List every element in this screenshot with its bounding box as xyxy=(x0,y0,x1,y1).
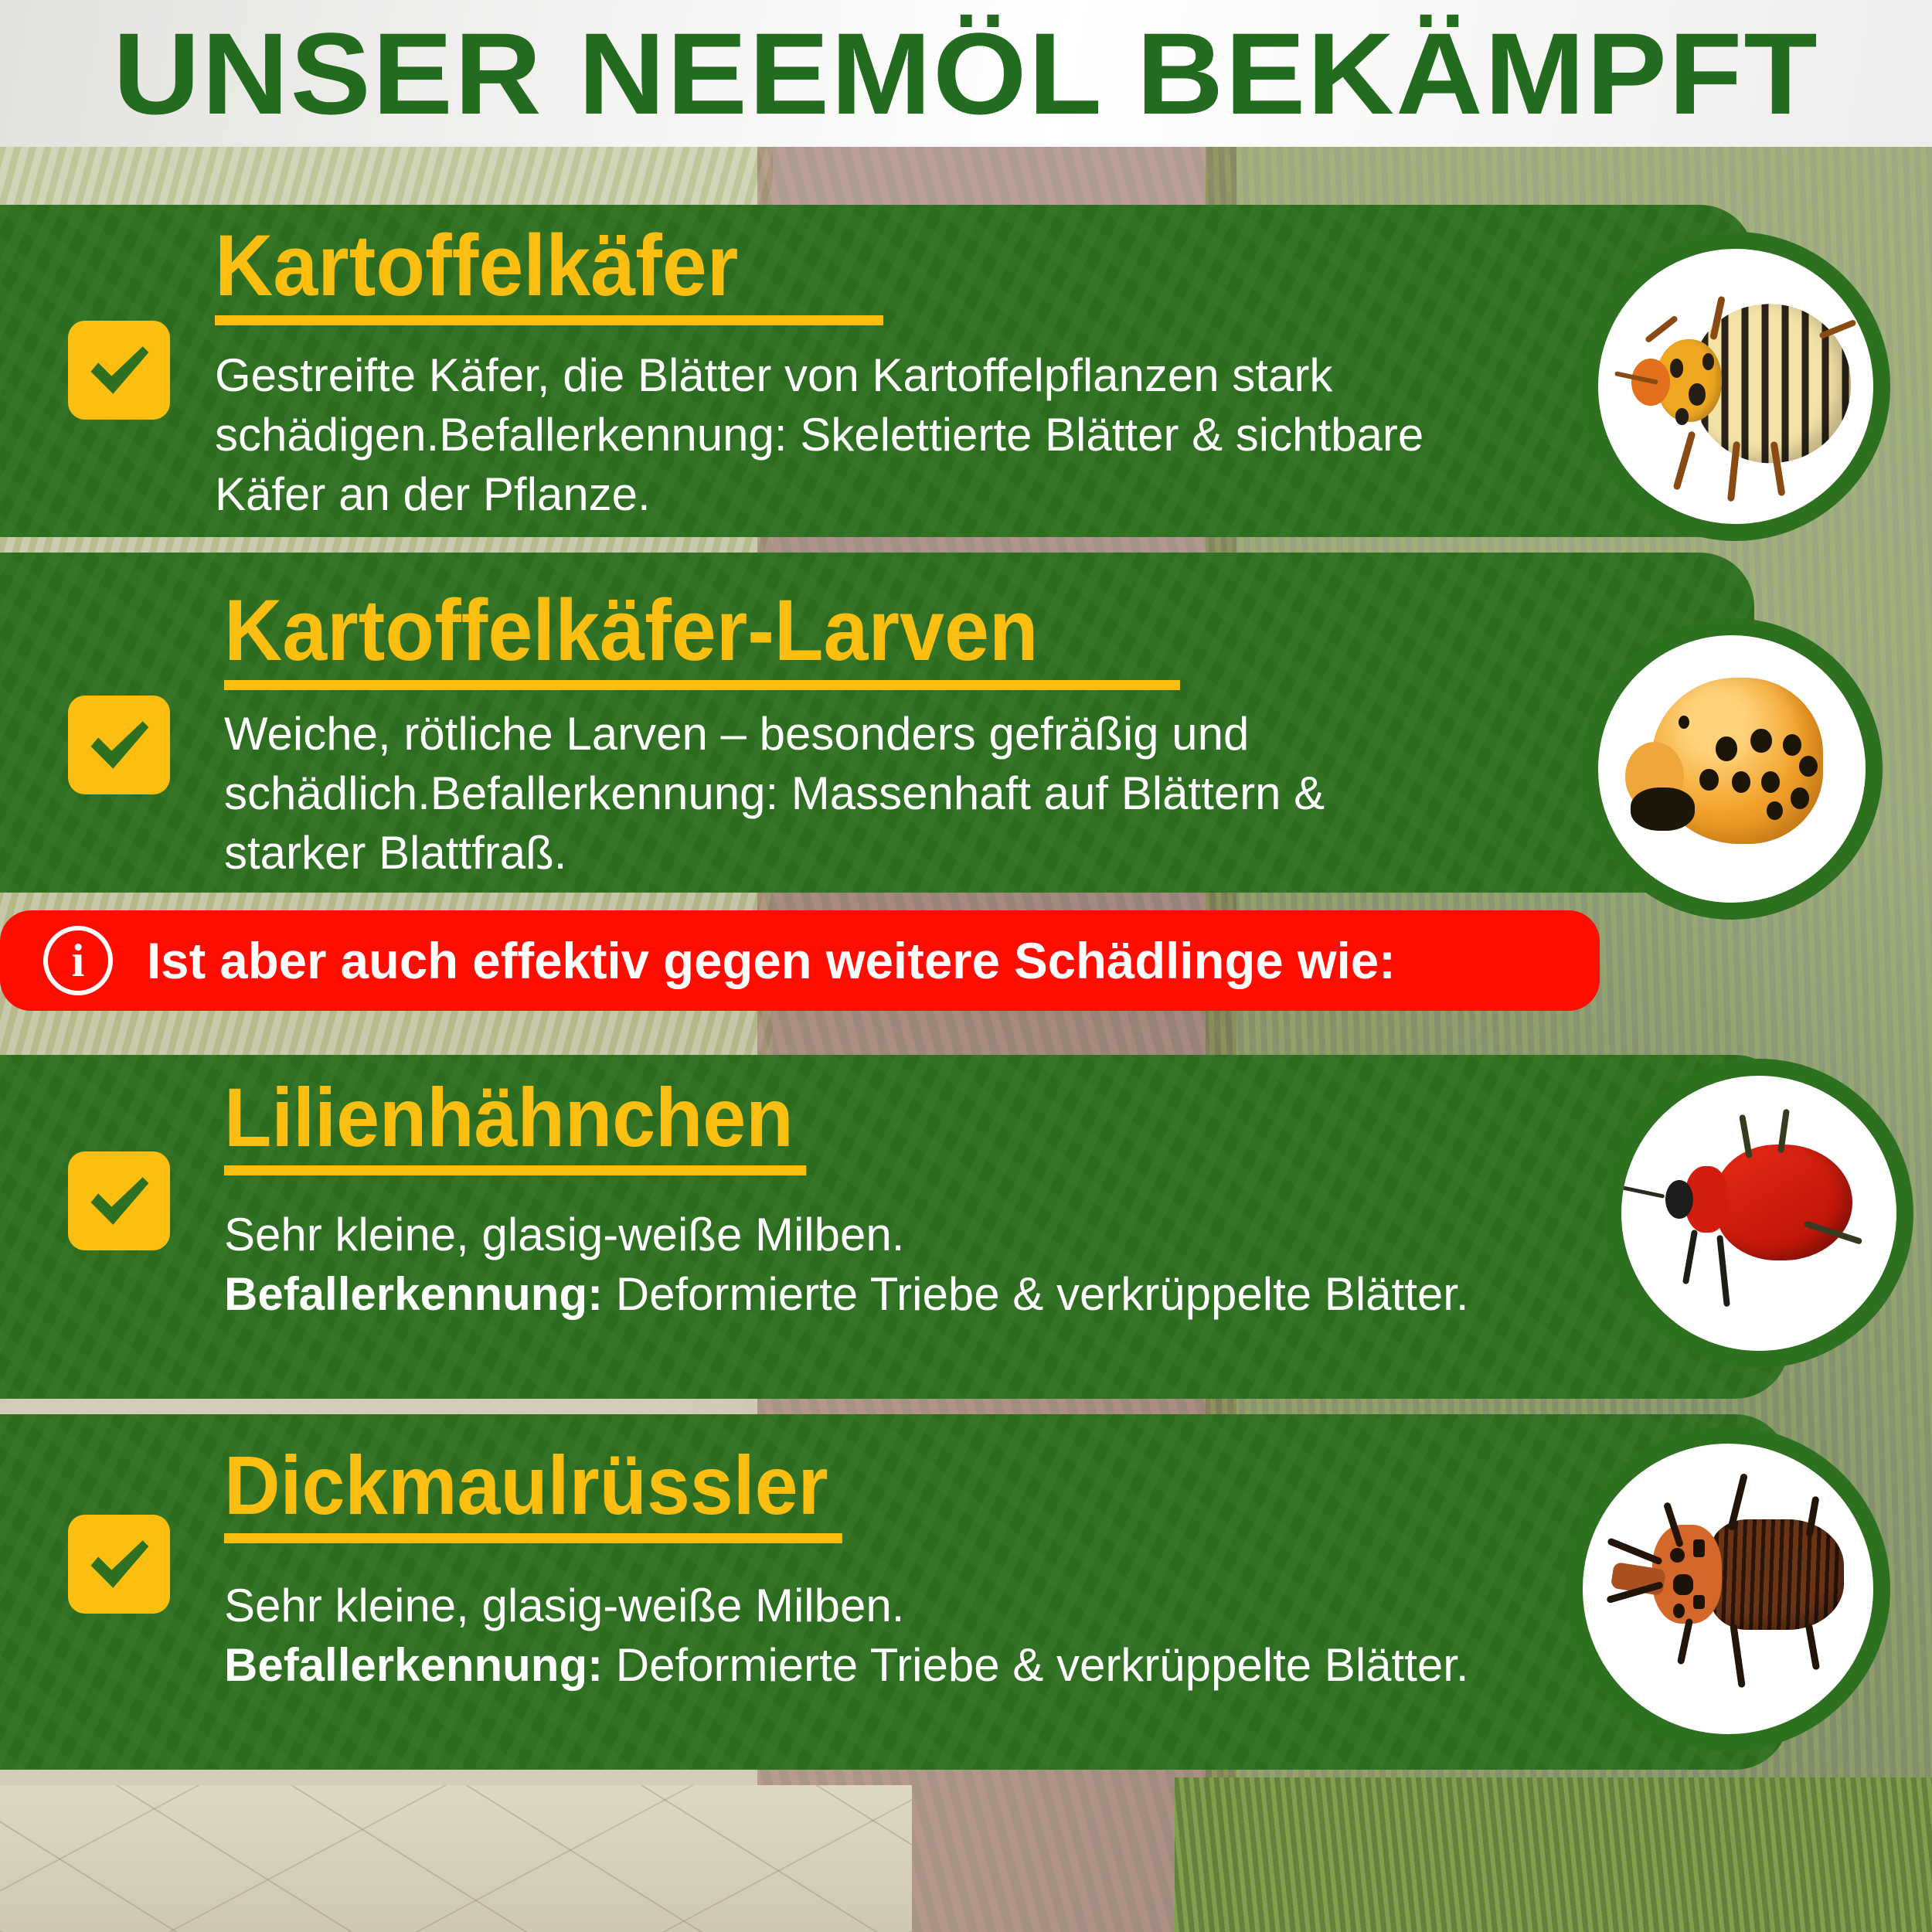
info-banner: i Ist aber auch effektiv gegen weitere S… xyxy=(0,910,1600,1011)
pest-title-3: Lilienhähnchen xyxy=(224,1076,806,1175)
pest-line-2-label-3: Befallerkennung: xyxy=(224,1268,603,1320)
poster-root: UNSER NEEMÖL BEKÄMPFT Kartoffelkäfer Ges… xyxy=(0,0,1932,1932)
scarlet-lily-beetle-photo xyxy=(1621,1076,1896,1351)
pest-title-4: Dickmaulrüssler xyxy=(224,1444,842,1543)
check-icon xyxy=(68,1515,170,1614)
pest-line-2-3: Befallerkennung: Deformierte Triebe & ve… xyxy=(224,1265,1615,1325)
potato-beetle-larva-photo xyxy=(1598,635,1866,903)
grass-background xyxy=(1175,1777,1932,1932)
colorado-potato-beetle-photo xyxy=(1598,249,1873,524)
pest-photo-4 xyxy=(1566,1427,1890,1751)
pest-photo-2 xyxy=(1581,618,1883,920)
pest-title-2: Kartoffelkäfer-Larven xyxy=(224,587,1180,690)
pest-description-1: Gestreifte Käfer, die Blätter von Kartof… xyxy=(215,346,1529,524)
pest-line-2-label-4: Befallerkennung: xyxy=(224,1639,603,1691)
pest-line-2-4: Befallerkennung: Deformierte Triebe & ve… xyxy=(224,1636,1615,1696)
pest-description-2: Weiche, rötliche Larven – besonders gefr… xyxy=(224,705,1461,883)
pest-photo-1 xyxy=(1581,232,1890,541)
vine-weevil-photo xyxy=(1583,1444,1873,1734)
pest-line-2-rest-3: Deformierte Triebe & verkrüppelte Blätte… xyxy=(603,1268,1469,1320)
pest-line-1-4: Sehr kleine, glasig-weiße Milben. xyxy=(224,1577,1615,1636)
info-banner-text: Ist aber auch effektiv gegen weitere Sch… xyxy=(147,931,1396,990)
stone-path-background xyxy=(0,1785,912,1932)
page-title: UNSER NEEMÖL BEKÄMPFT xyxy=(0,8,1932,139)
check-icon xyxy=(68,696,170,794)
pest-line-1-3: Sehr kleine, glasig-weiße Milben. xyxy=(224,1206,1615,1265)
pest-title-1: Kartoffelkäfer xyxy=(215,223,883,325)
pest-photo-3 xyxy=(1604,1059,1913,1368)
check-icon xyxy=(68,321,170,420)
pest-line-2-rest-4: Deformierte Triebe & verkrüppelte Blätte… xyxy=(603,1639,1469,1691)
check-icon xyxy=(68,1151,170,1250)
header-band: UNSER NEEMÖL BEKÄMPFT xyxy=(0,0,1932,147)
info-circle-icon: i xyxy=(43,926,113,995)
